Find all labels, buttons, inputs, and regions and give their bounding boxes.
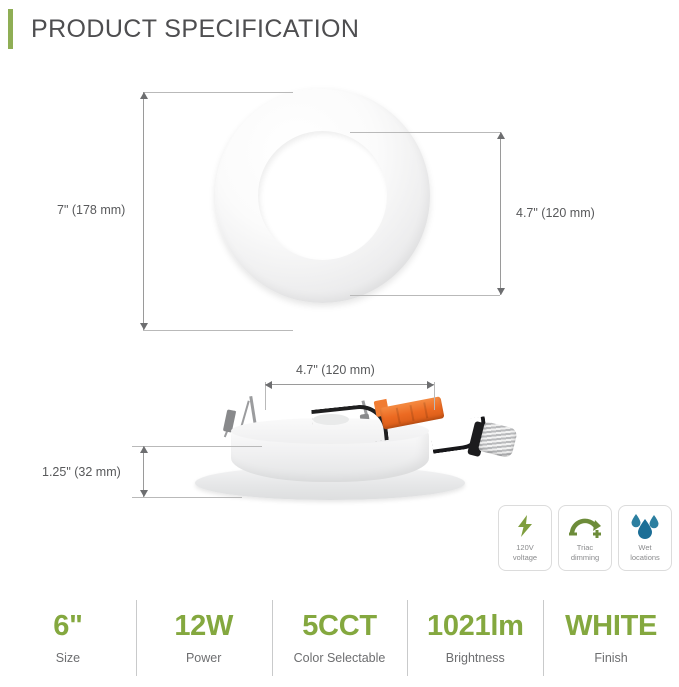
trim-ring-diagram: 7" (178 mm) 4.7" (120 mm) — [0, 60, 679, 360]
inner-dim-line — [500, 132, 501, 295]
outer-dim-extension-bottom — [143, 330, 293, 331]
badge-wet-line1: Wet — [630, 543, 660, 553]
badge-voltage: 120V voltage — [498, 505, 552, 571]
feature-badges: 120V voltage Triac dimming — [498, 505, 672, 571]
height-dim-arrow-bottom — [140, 490, 148, 497]
outer-dim-extension-top — [143, 92, 293, 93]
inner-diameter-label: 4.7" (120 mm) — [516, 206, 595, 220]
dimmer-arc-icon — [568, 513, 602, 539]
badge-voltage-text: 120V voltage — [513, 543, 537, 562]
inner-dim-extension-top — [350, 132, 500, 133]
e26-screw-base — [478, 421, 518, 458]
outer-dim-arrow-top — [140, 92, 148, 99]
height-dim-arrow-top — [140, 446, 148, 453]
badge-voltage-line2: voltage — [513, 553, 537, 563]
width-dim-line — [265, 384, 434, 385]
water-drops-icon — [630, 513, 660, 539]
lightning-bolt-icon — [515, 513, 535, 539]
inner-dim-arrow-top — [497, 132, 505, 139]
spec-value-color: 5CCT — [302, 609, 377, 643]
badge-wet-locations: Wet locations — [618, 505, 672, 571]
badge-dimming-line2: dimming — [571, 553, 599, 563]
height-dim-extension-bottom — [132, 497, 242, 498]
spec-label-brightness: Brightness — [446, 651, 505, 665]
outer-dim-line — [143, 92, 144, 330]
spec-label-power: Power — [186, 651, 221, 665]
badge-dimming: Triac dimming — [558, 505, 612, 571]
trim-ring-image — [215, 88, 430, 303]
inner-dim-extension-bottom — [350, 295, 500, 296]
fixture-image — [195, 398, 465, 503]
width-dim-extension-right — [434, 382, 435, 410]
page-header: PRODUCT SPECIFICATION — [0, 8, 359, 50]
header-accent-bar — [8, 9, 13, 49]
spec-cell-brightness: 1021lm Brightness — [407, 598, 543, 676]
width-dim-arrow-right — [427, 381, 434, 389]
spec-cell-finish: WHITE Finish — [543, 598, 679, 676]
outer-dim-arrow-bottom — [140, 323, 148, 330]
badge-voltage-line1: 120V — [513, 543, 537, 553]
width-dim-arrow-left — [265, 381, 272, 389]
housing-width-label: 4.7" (120 mm) — [296, 363, 375, 377]
spec-cell-power: 12W Power — [136, 598, 272, 676]
spec-value-power: 12W — [174, 609, 233, 643]
spec-label-finish: Finish — [594, 651, 627, 665]
height-dim-extension-top — [132, 446, 262, 447]
spec-label-size: Size — [56, 651, 80, 665]
badge-wet-text: Wet locations — [630, 543, 660, 562]
spec-label-color: Color Selectable — [294, 651, 386, 665]
fixture-side-diagram: 4.7" (120 mm) 1.25" (32 mm) — [0, 360, 679, 510]
spec-value-size: 6" — [53, 609, 82, 643]
inner-dim-arrow-bottom — [497, 288, 505, 295]
outer-diameter-label: 7" (178 mm) — [57, 203, 125, 217]
page-title: PRODUCT SPECIFICATION — [31, 15, 359, 44]
badge-dimming-text: Triac dimming — [571, 543, 599, 562]
badge-dimming-line1: Triac — [571, 543, 599, 553]
spec-cell-color: 5CCT Color Selectable — [272, 598, 408, 676]
specification-bar: 6" Size 12W Power 5CCT Color Selectable … — [0, 598, 679, 687]
badge-wet-line2: locations — [630, 553, 660, 563]
spec-value-brightness: 1021lm — [427, 609, 524, 643]
housing-height-label: 1.25" (32 mm) — [42, 465, 121, 479]
spec-cell-size: 6" Size — [0, 598, 136, 676]
spec-value-finish: WHITE — [565, 609, 657, 643]
